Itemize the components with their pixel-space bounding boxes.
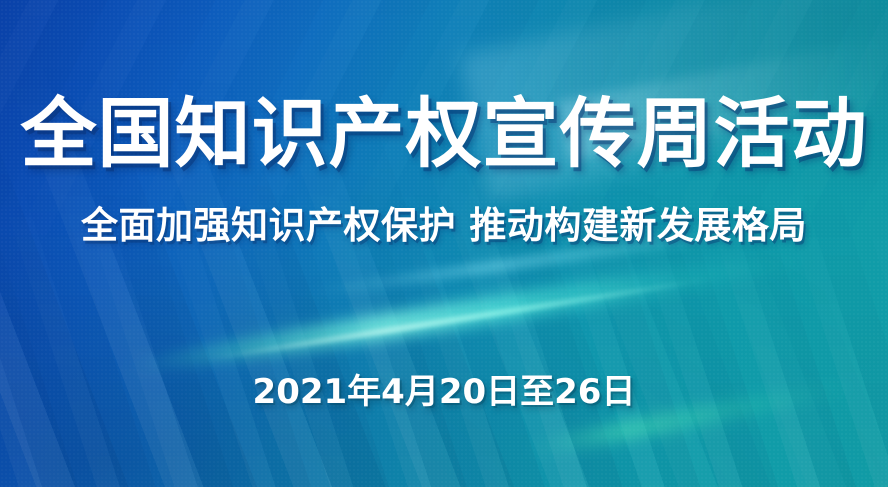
banner-text-stack: 全国知识产权宣传周活动 全面加强知识产权保护 推动构建新发展格局 2021年4月… [0, 0, 888, 487]
banner-date-range: 2021年4月20日至26日 [0, 375, 888, 409]
banner-subtitle: 全面加强知识产权保护 推动构建新发展格局 [0, 207, 888, 244]
banner-title: 全国知识产权宣传周活动 [0, 96, 888, 172]
promo-banner: 全国知识产权宣传周活动 全面加强知识产权保护 推动构建新发展格局 2021年4月… [0, 0, 888, 487]
